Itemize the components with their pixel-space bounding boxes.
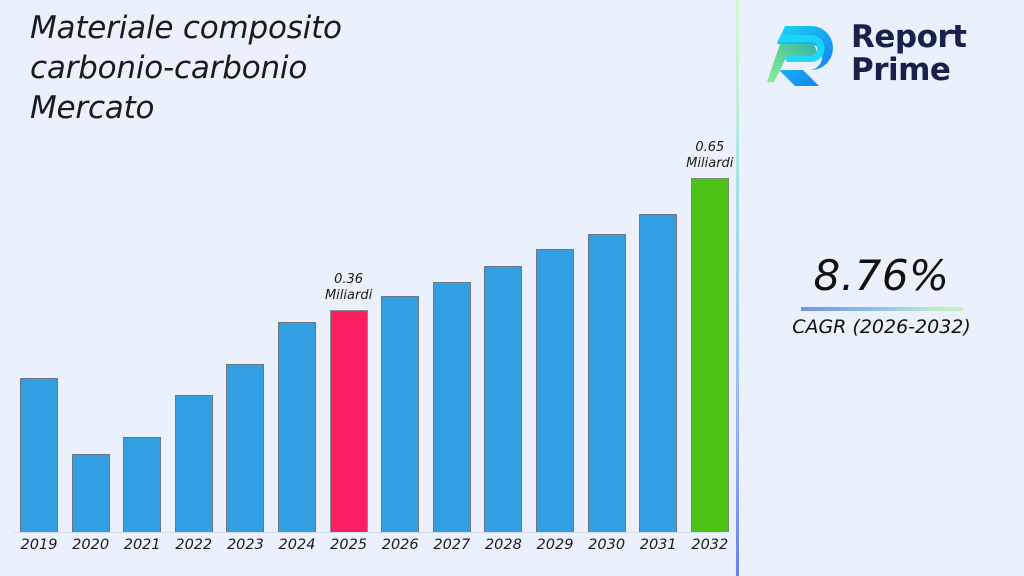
bar-2030 [588, 234, 626, 532]
bar-2025 [330, 310, 368, 532]
x-tick-label-2019: 2019 [11, 537, 67, 553]
x-tick-label-2023: 2023 [217, 537, 273, 553]
bar-2029 [536, 249, 574, 532]
x-axis-baseline [14, 532, 720, 533]
bar-2023 [226, 364, 264, 532]
x-tick-label-2024: 2024 [269, 537, 325, 553]
x-tick-label-2027: 2027 [424, 537, 480, 553]
x-tick-label-2030: 2030 [579, 537, 635, 553]
x-tick-label-2032: 2032 [682, 537, 738, 553]
bar-2032 [691, 178, 729, 532]
bar-2020 [72, 454, 110, 532]
cagr-block: 8.76% CAGR (2026-2032) [739, 252, 1024, 339]
bar-2026 [381, 296, 419, 532]
bar-2019 [20, 378, 58, 532]
report-prime-logo-icon [767, 19, 839, 89]
plot-area: 2019202020212022202320242025202620272028… [0, 0, 737, 576]
x-tick-label-2031: 2031 [630, 537, 686, 553]
cagr-value: 8.76% [739, 252, 1024, 300]
x-tick-label-2022: 2022 [166, 537, 222, 553]
x-tick-label-2028: 2028 [475, 537, 531, 553]
brand-name: Report Prime [851, 21, 967, 87]
bar-2022 [175, 395, 213, 532]
cagr-divider-rule [801, 307, 963, 311]
chart-panel: Materiale composito carbonio-carbonio Me… [0, 0, 737, 576]
bar-2028 [484, 266, 522, 532]
bar-2021 [123, 437, 161, 532]
x-tick-label-2025: 2025 [321, 537, 377, 553]
right-panel: Report Prime 8.76% CAGR (2026-2032) [739, 0, 1024, 576]
bar-2024 [278, 322, 316, 532]
x-tick-label-2021: 2021 [114, 537, 170, 553]
x-tick-label-2026: 2026 [372, 537, 428, 553]
bar-2031 [639, 214, 677, 532]
bar-2027 [433, 282, 471, 532]
x-tick-label-2029: 2029 [527, 537, 583, 553]
x-tick-label-2020: 2020 [63, 537, 119, 553]
chart-page: Materiale composito carbonio-carbonio Me… [0, 0, 1024, 576]
cagr-caption: CAGR (2026-2032) [739, 315, 1024, 339]
brand-logo: Report Prime [767, 14, 1007, 94]
